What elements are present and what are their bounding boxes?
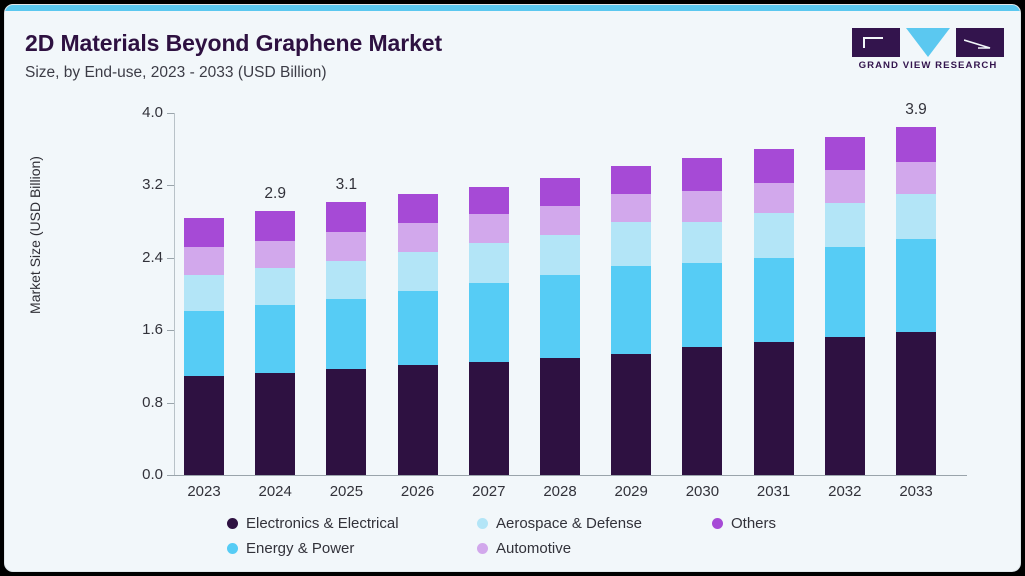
y-axis-tick-mark: [167, 113, 174, 114]
bar-segment[interactable]: [255, 373, 295, 475]
y-axis-tick-label: 1.6: [113, 321, 163, 338]
x-axis-line: [174, 475, 967, 476]
y-axis-tick-label: 4.0: [113, 104, 163, 121]
bar-segment[interactable]: [611, 194, 651, 222]
y-axis-line: [174, 113, 175, 475]
x-axis-tick-label: 2032: [810, 483, 880, 500]
legend-color-swatch: [227, 543, 238, 554]
legend-row: Energy & PowerAutomotive: [227, 540, 847, 565]
x-axis-tick-label: 2033: [881, 483, 951, 500]
bar-value-label: 3.9: [881, 101, 951, 119]
bar-segment[interactable]: [825, 337, 865, 475]
bar-segment[interactable]: [255, 305, 295, 373]
bar-segment[interactable]: [184, 311, 224, 376]
bar-segment[interactable]: [896, 239, 936, 332]
chart-legend: Electronics & ElectricalAerospace & Defe…: [227, 515, 847, 565]
bar-segment[interactable]: [754, 258, 794, 342]
bar-segment[interactable]: [682, 222, 722, 264]
y-axis-tick-label: 0.8: [113, 394, 163, 411]
legend-label: Aerospace & Defense: [496, 515, 642, 532]
bar-segment[interactable]: [825, 170, 865, 203]
bar-segment[interactable]: [611, 266, 651, 354]
bar-segment[interactable]: [682, 347, 722, 475]
bar-segment[interactable]: [682, 263, 722, 347]
bar-stack[interactable]: [754, 149, 794, 475]
legend-item[interactable]: Automotive: [477, 540, 712, 557]
bar-segment[interactable]: [825, 137, 865, 170]
bar-segment[interactable]: [682, 158, 722, 191]
bar-segment[interactable]: [540, 358, 580, 475]
bar-segment[interactable]: [825, 203, 865, 247]
bar-segment[interactable]: [469, 283, 509, 362]
legend-label: Energy & Power: [246, 540, 354, 557]
bar-segment[interactable]: [398, 365, 438, 475]
y-axis-tick-label: 0.0: [113, 466, 163, 483]
x-axis-tick-label: 2027: [454, 483, 524, 500]
x-axis-tick-label: 2028: [525, 483, 595, 500]
bar-segment[interactable]: [896, 194, 936, 239]
bar-segment[interactable]: [398, 194, 438, 224]
bar-stack[interactable]: [326, 202, 366, 475]
bar-segment[interactable]: [326, 369, 366, 475]
bar-segment[interactable]: [754, 149, 794, 182]
y-axis-label: Market Size (USD Billion): [27, 135, 43, 335]
y-axis-tick-label: 2.4: [113, 249, 163, 266]
x-axis-tick-label: 2026: [383, 483, 453, 500]
legend-item[interactable]: Aerospace & Defense: [477, 515, 712, 532]
x-axis-tick-label: 2024: [240, 483, 310, 500]
bar-segment[interactable]: [255, 241, 295, 268]
legend-row: Electronics & ElectricalAerospace & Defe…: [227, 515, 847, 540]
bar-value-label: 2.9: [240, 185, 310, 203]
bar-segment[interactable]: [469, 362, 509, 475]
x-axis-tick-label: 2030: [667, 483, 737, 500]
chart-card: 2D Materials Beyond Graphene Market Size…: [4, 4, 1021, 572]
bar-segment[interactable]: [184, 247, 224, 275]
legend-color-swatch: [477, 543, 488, 554]
bar-segment[interactable]: [540, 178, 580, 206]
bar-segment[interactable]: [184, 218, 224, 247]
bar-stack[interactable]: [398, 194, 438, 475]
legend-label: Electronics & Electrical: [246, 515, 399, 532]
bar-segment[interactable]: [611, 222, 651, 265]
bar-segment[interactable]: [540, 235, 580, 275]
bar-value-label: 3.1: [311, 176, 381, 194]
y-axis-tick-mark: [167, 185, 174, 186]
bar-segment[interactable]: [326, 261, 366, 299]
bar-segment[interactable]: [326, 202, 366, 232]
bar-segment[interactable]: [540, 206, 580, 235]
legend-color-swatch: [712, 518, 723, 529]
bar-stack[interactable]: [611, 166, 651, 475]
bar-segment[interactable]: [754, 213, 794, 257]
bar-stack[interactable]: [255, 211, 295, 475]
bar-segment[interactable]: [540, 275, 580, 358]
legend-color-swatch: [477, 518, 488, 529]
bar-stack[interactable]: [540, 178, 580, 475]
bar-segment[interactable]: [469, 243, 509, 283]
bar-segment[interactable]: [184, 275, 224, 311]
x-axis-tick-label: 2029: [596, 483, 666, 500]
bar-segment[interactable]: [896, 127, 936, 162]
legend-item[interactable]: Others: [712, 515, 832, 532]
bar-segment[interactable]: [682, 191, 722, 222]
y-axis-tick-label: 3.2: [113, 176, 163, 193]
bar-segment[interactable]: [754, 342, 794, 475]
bar-stack[interactable]: [896, 127, 936, 475]
y-axis-tick-mark: [167, 258, 174, 259]
bar-segment[interactable]: [255, 268, 295, 305]
x-axis-tick-label: 2031: [739, 483, 809, 500]
bar-segment[interactable]: [611, 166, 651, 194]
bar-segment[interactable]: [326, 299, 366, 370]
bar-stack[interactable]: [184, 218, 224, 475]
legend-label: Others: [731, 515, 776, 532]
bar-segment[interactable]: [398, 252, 438, 291]
bar-stack[interactable]: [825, 137, 865, 475]
y-axis-tick-mark: [167, 403, 174, 404]
bar-stack[interactable]: [682, 158, 722, 475]
bar-segment[interactable]: [611, 354, 651, 475]
bar-segment[interactable]: [255, 211, 295, 241]
bar-segment[interactable]: [896, 332, 936, 475]
legend-item[interactable]: Energy & Power: [227, 540, 477, 557]
bar-segment[interactable]: [896, 162, 936, 194]
bar-stack[interactable]: [469, 187, 509, 475]
legend-label: Automotive: [496, 540, 571, 557]
legend-color-swatch: [227, 518, 238, 529]
bar-segment[interactable]: [398, 223, 438, 252]
bar-segment[interactable]: [469, 214, 509, 243]
bar-segment[interactable]: [184, 376, 224, 475]
bar-segment[interactable]: [469, 187, 509, 214]
legend-item[interactable]: Electronics & Electrical: [227, 515, 477, 532]
bar-segment[interactable]: [754, 183, 794, 214]
bar-segment[interactable]: [825, 247, 865, 337]
bar-segment[interactable]: [326, 232, 366, 261]
x-axis-tick-label: 2023: [169, 483, 239, 500]
bar-segment[interactable]: [398, 291, 438, 365]
x-axis-tick-label: 2025: [311, 483, 381, 500]
chart-plot-area: Market Size (USD Billion) 0.00.81.62.43.…: [5, 5, 1021, 572]
y-axis-tick-mark: [167, 475, 174, 476]
y-axis-tick-mark: [167, 330, 174, 331]
